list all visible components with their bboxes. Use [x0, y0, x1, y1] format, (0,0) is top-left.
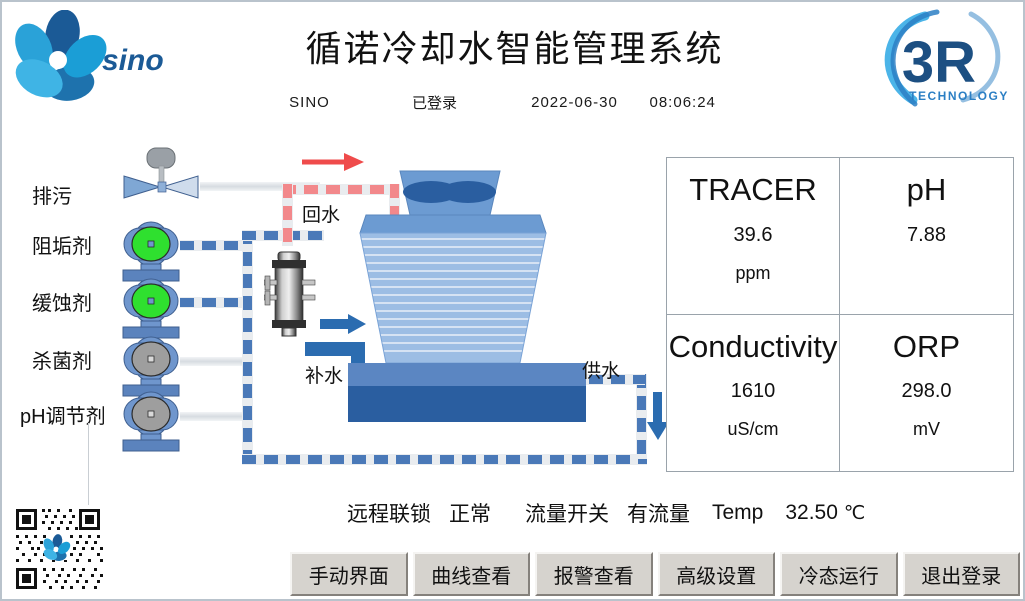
- pump-biocide[interactable]: [120, 335, 182, 397]
- logged-user: SINO: [250, 94, 370, 111]
- current-time: 08:06:24: [650, 94, 780, 111]
- panel-cell-conductivity: Conductivity 1610 uS/cm: [667, 315, 840, 472]
- trend-view-button[interactable]: 曲线查看: [413, 552, 531, 596]
- return-pipe-left: [282, 184, 293, 246]
- conductivity-unit: uS/cm: [727, 419, 778, 440]
- current-date: 2022-06-30: [500, 94, 650, 111]
- header-info-row: SINO 已登录 2022-06-30 08:06:24: [2, 92, 1025, 113]
- page-title: 循诺冷却水智能管理系统: [2, 20, 1025, 72]
- qr-divider: [88, 423, 89, 513]
- login-status: 已登录: [370, 92, 500, 113]
- app-window: sino 3R TECHNOLOGY 循诺冷却水智能管理系统 SINO 已登录 …: [0, 0, 1025, 601]
- orp-value: 298.0: [901, 380, 951, 403]
- label-biocide: 杀菌剂: [32, 345, 92, 374]
- dose-line-antiscalant: [180, 240, 250, 251]
- label-corrosion-inhibitor: 缓蚀剂: [32, 287, 92, 316]
- tracer-value: 39.6: [734, 224, 773, 247]
- button-bar: 手动界面 曲线查看 报警查看 高级设置 冷态运行 退出登录: [290, 552, 1020, 596]
- label-blowdown: 排污: [32, 180, 72, 209]
- dose-line-biocide: [180, 357, 250, 366]
- orp-unit: mV: [913, 419, 940, 440]
- blowdown-valve-icon[interactable]: [120, 146, 208, 206]
- side-stream-filter-icon[interactable]: [264, 250, 320, 342]
- pump-antiscalant[interactable]: [120, 220, 182, 282]
- temp-unit: ℃: [844, 502, 865, 525]
- label-return-water: 回水: [302, 200, 340, 227]
- tracer-unit: ppm: [735, 263, 770, 284]
- measurement-panel: TRACER 39.6 ppm pH 7.88 Conductivity 161…: [666, 157, 1014, 472]
- dose-line-ph: [180, 412, 250, 421]
- label-makeup-water: 补水: [305, 361, 343, 388]
- conductivity-key: Conductivity: [669, 329, 838, 365]
- interlock-value: 正常: [449, 498, 491, 528]
- advanced-settings-button[interactable]: 高级设置: [658, 552, 776, 596]
- label-antiscalant: 阻垢剂: [32, 230, 92, 259]
- flow-switch-value: 有流量: [627, 498, 690, 528]
- alarm-view-button[interactable]: 报警查看: [535, 552, 653, 596]
- flow-switch-label: 流量开关: [525, 498, 609, 528]
- label-supply-water: 供水: [582, 356, 620, 383]
- tracer-key: TRACER: [689, 172, 816, 208]
- panel-cell-orp: ORP 298.0 mV: [840, 315, 1013, 472]
- cold-start-button[interactable]: 冷态运行: [780, 552, 898, 596]
- temp-value: 32.50: [785, 501, 838, 525]
- panel-cell-ph: pH 7.88: [840, 158, 1013, 315]
- manual-interface-button[interactable]: 手动界面: [290, 552, 408, 596]
- ph-value: 7.88: [907, 224, 946, 247]
- ph-key: pH: [907, 172, 947, 208]
- dosing-riser: [242, 230, 253, 465]
- pump-corrosion-inhibitor[interactable]: [120, 277, 182, 339]
- status-row: 远程联锁 正常 流量开关 有流量 Temp 32.50 ℃: [347, 497, 1017, 529]
- qr-code: [12, 505, 104, 593]
- dose-line-corrosion: [180, 297, 250, 308]
- panel-cell-tracer: TRACER 39.6 ppm: [667, 158, 840, 315]
- label-ph-adjuster: pH调节剂: [20, 400, 106, 429]
- cooling-tower: [342, 167, 592, 422]
- orp-key: ORP: [893, 329, 960, 365]
- loop-bottom: [242, 454, 647, 465]
- logout-button[interactable]: 退出登录: [903, 552, 1021, 596]
- interlock-label: 远程联锁: [347, 498, 431, 528]
- pump-ph-adjuster[interactable]: [120, 390, 182, 452]
- conductivity-value: 1610: [731, 380, 776, 403]
- temp-label: Temp: [712, 501, 763, 525]
